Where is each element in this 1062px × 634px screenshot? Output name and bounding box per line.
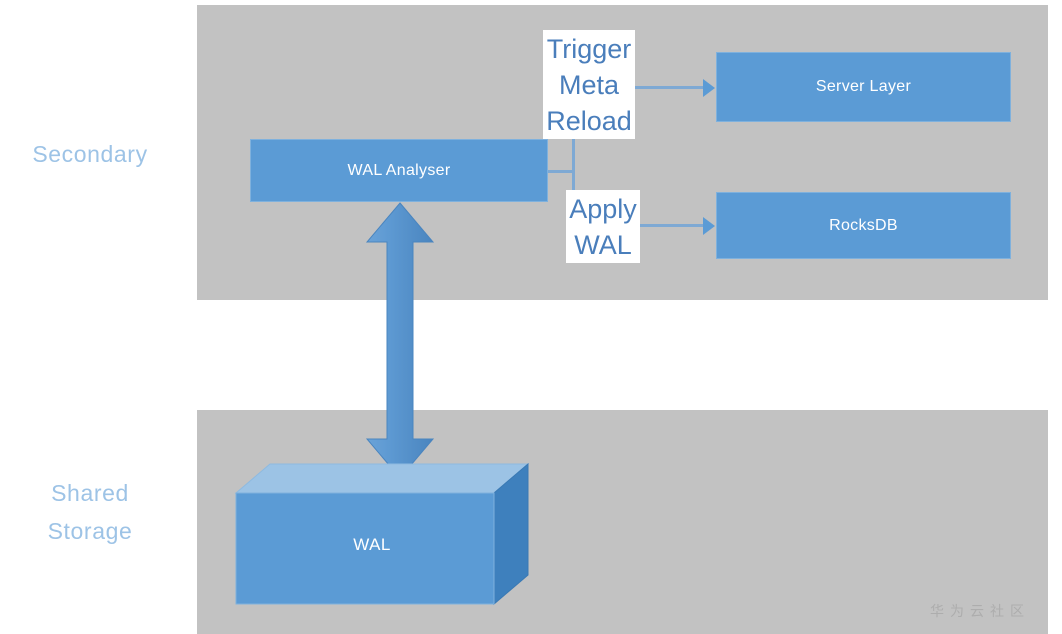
arrowhead-to-server-layer-icon (703, 79, 715, 97)
connector-analyser-stub (546, 170, 575, 173)
arrowhead-to-rocksdb-icon (703, 217, 715, 235)
process-box-server-layer[interactable]: Server Layer (716, 52, 1011, 122)
zone-label-secondary: Secondary (0, 135, 180, 173)
callout-trigger-meta-reload[interactable]: Trigger Meta Reload (543, 30, 635, 139)
connector-apply-wal-to-rocksdb (640, 224, 707, 227)
diagram-canvas: Secondary Shared Storage WAL Analyser Se… (0, 0, 1062, 634)
zone-label-shared-storage: Shared Storage (0, 474, 180, 550)
callout-apply-wal[interactable]: Apply WAL (566, 190, 640, 263)
process-box-wal-analyser[interactable]: WAL Analyser (250, 139, 548, 202)
double-arrow-wal-analyser-to-wal-store-icon (365, 202, 435, 479)
connector-analyser-riser (572, 133, 575, 197)
connector-trigger-meta-reload-to-server-layer (635, 86, 707, 89)
storage-box-wal-label: WAL (236, 492, 508, 598)
watermark-text: 华为云社区 (930, 601, 1030, 621)
process-box-rocksdb[interactable]: RocksDB (716, 192, 1011, 259)
